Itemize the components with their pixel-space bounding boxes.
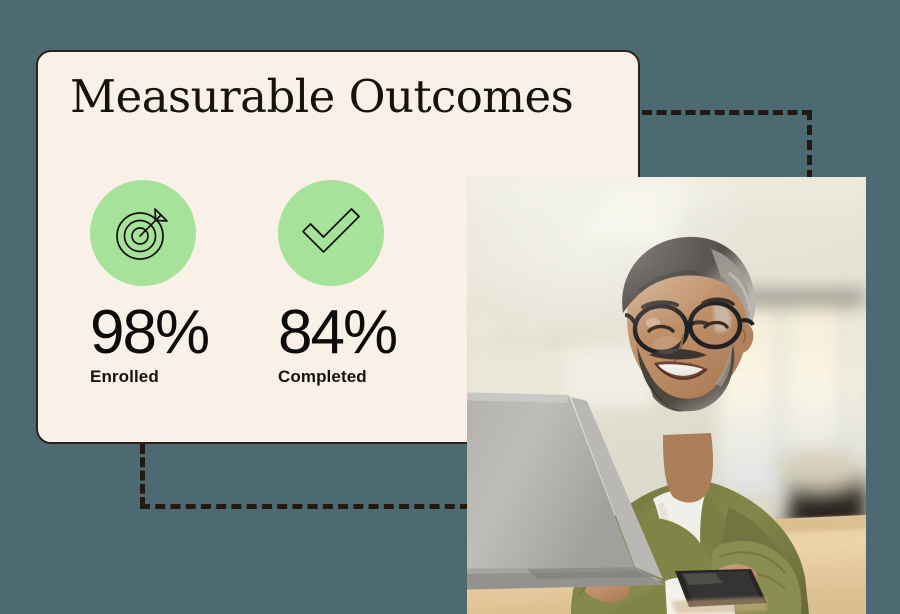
stat-badge-completed bbox=[278, 180, 384, 286]
stat-enrolled: 98% Enrolled bbox=[90, 180, 230, 387]
dashed-line-top-vertical bbox=[807, 110, 812, 180]
target-icon bbox=[111, 201, 175, 265]
stat-value-completed: 84% bbox=[278, 300, 418, 365]
stat-label-completed: Completed bbox=[278, 367, 418, 387]
stat-value-enrolled: 98% bbox=[90, 300, 230, 365]
dashed-line-bottom-horizontal bbox=[140, 504, 470, 509]
stat-completed: 84% Completed bbox=[278, 180, 418, 387]
dashed-line-top-horizontal bbox=[642, 110, 812, 115]
person-at-laptop-photo bbox=[467, 177, 866, 614]
dashed-line-bottom-vertical bbox=[140, 444, 145, 507]
check-icon bbox=[298, 200, 364, 266]
page-title: Measurable Outcomes bbox=[70, 74, 573, 119]
stat-label-enrolled: Enrolled bbox=[90, 367, 230, 387]
stats-row: 98% Enrolled 84% Completed bbox=[90, 180, 418, 387]
promo-graphic: Measurable Outcomes bbox=[0, 0, 900, 614]
stat-badge-enrolled bbox=[90, 180, 196, 286]
